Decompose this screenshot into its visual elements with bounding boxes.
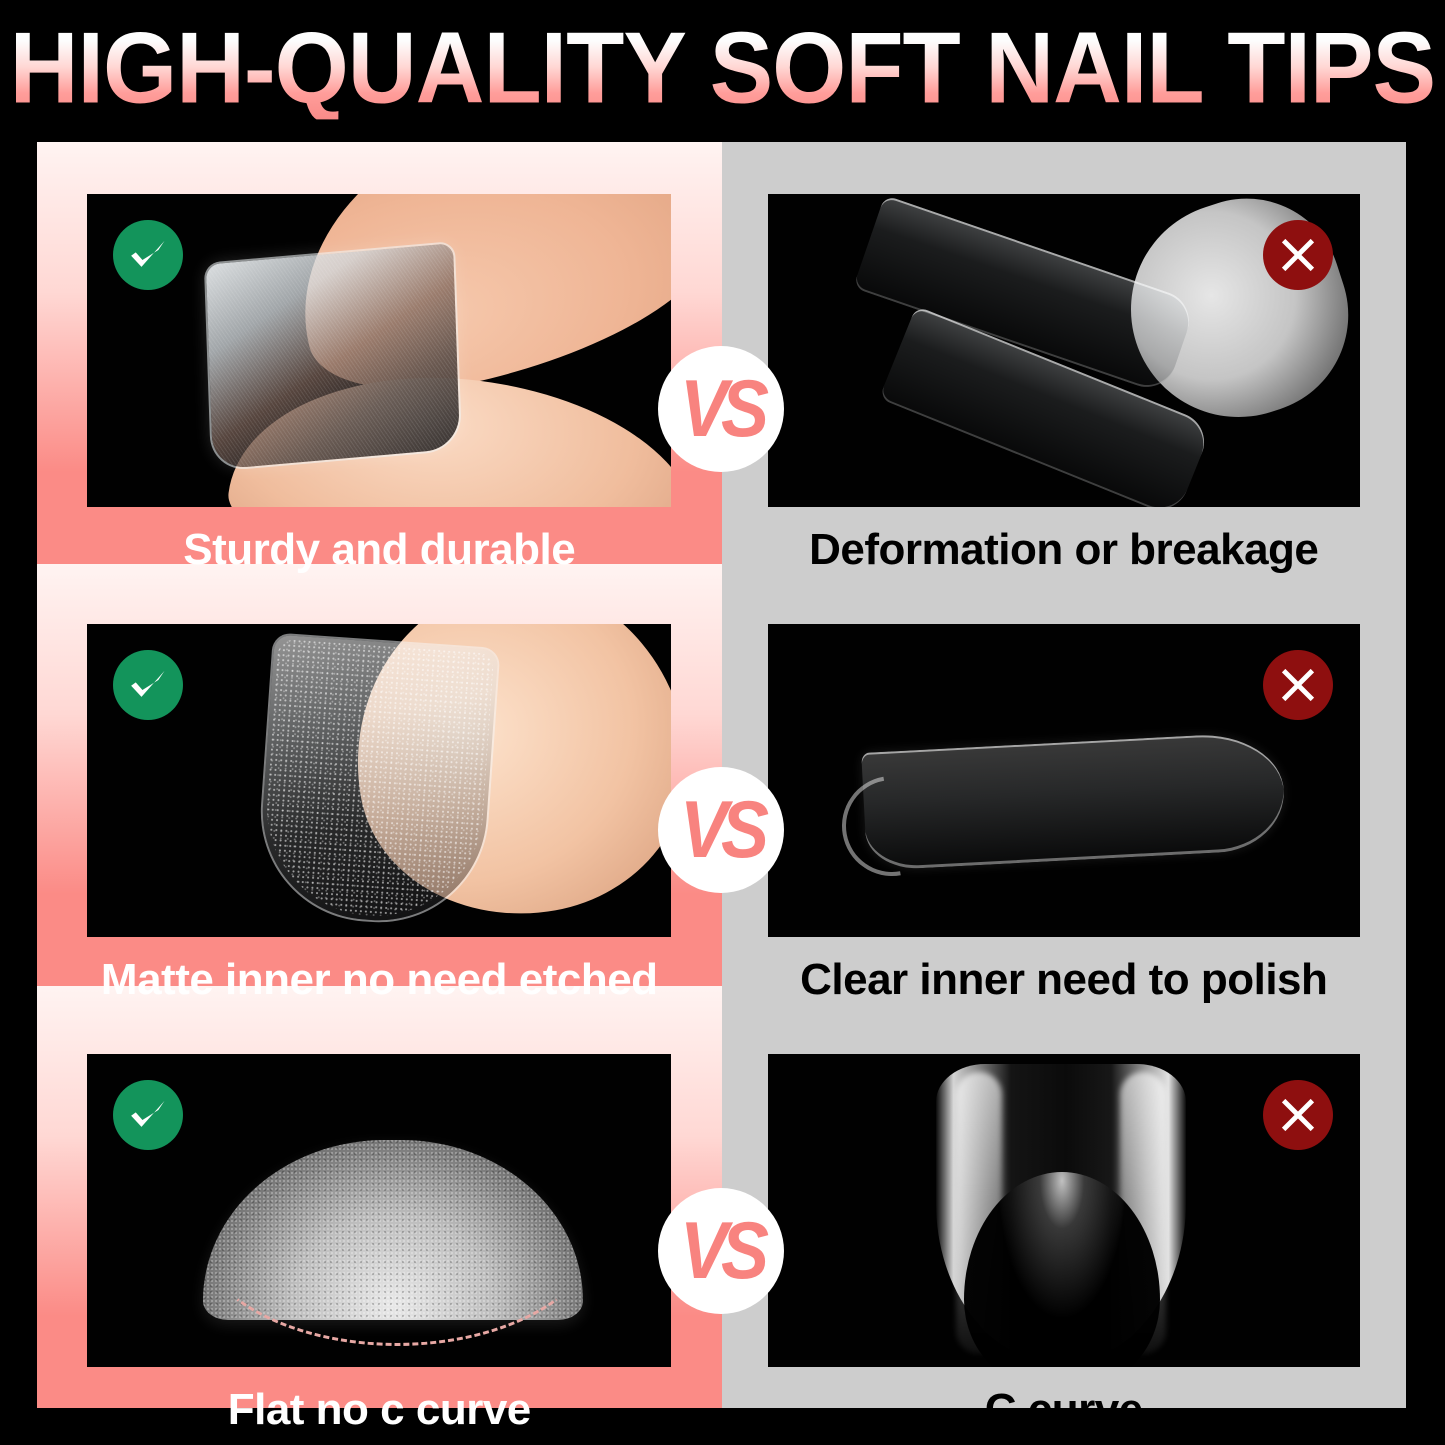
- con-caption-1: Deformation or breakage: [722, 528, 1407, 572]
- nail-tip-shape: [206, 243, 460, 470]
- vs-badge-1: VS: [658, 346, 784, 472]
- x-icon: [1263, 220, 1333, 290]
- con-photo-2: [768, 624, 1360, 937]
- pro-photo-2: [87, 624, 671, 937]
- comparison-grid: Sturdy and durable Matte inner no need e…: [37, 142, 1406, 1408]
- pro-cell-1: Sturdy and durable: [37, 142, 722, 572]
- con-cell-3: C curve: [722, 1002, 1407, 1432]
- vs-badge-2: VS: [658, 767, 784, 893]
- con-photo-1: [768, 194, 1360, 507]
- pro-caption-1: Sturdy and durable: [37, 528, 722, 572]
- dashed-curve-guide: [191, 1208, 603, 1346]
- pro-photo-3: [87, 1054, 671, 1367]
- check-icon: [113, 220, 183, 290]
- pro-caption-3: Flat no c curve: [37, 1388, 722, 1432]
- product-comparison-poster: HIGH-QUALITY SOFT NAIL TIPS: [0, 0, 1445, 1445]
- vs-badge-label: VS: [680, 790, 762, 871]
- check-icon: [113, 1080, 183, 1150]
- vs-badge-label: VS: [680, 1211, 762, 1292]
- pro-column: Sturdy and durable Matte inner no need e…: [37, 142, 722, 1408]
- pro-photo-1: [87, 194, 671, 507]
- poster-header: HIGH-QUALITY SOFT NAIL TIPS: [0, 14, 1445, 124]
- x-icon: [1263, 650, 1333, 720]
- x-icon: [1263, 1080, 1333, 1150]
- con-column: Deformation or breakage Clear inner need: [722, 142, 1407, 1408]
- con-photo-3: [768, 1054, 1360, 1367]
- vs-badge-3: VS: [658, 1188, 784, 1314]
- con-caption-3: C curve: [722, 1388, 1407, 1432]
- con-cell-2: Clear inner need to polish: [722, 572, 1407, 1002]
- page-title: HIGH-QUALITY SOFT NAIL TIPS: [10, 19, 1435, 120]
- pro-cell-2: Matte inner no need etched: [37, 572, 722, 1002]
- check-icon: [113, 650, 183, 720]
- pro-caption-2: Matte inner no need etched: [37, 958, 722, 1002]
- con-cell-1: Deformation or breakage: [722, 142, 1407, 572]
- pro-cell-3: Flat no c curve: [37, 1002, 722, 1432]
- vs-badge-label: VS: [680, 369, 762, 450]
- con-caption-2: Clear inner need to polish: [722, 958, 1407, 1002]
